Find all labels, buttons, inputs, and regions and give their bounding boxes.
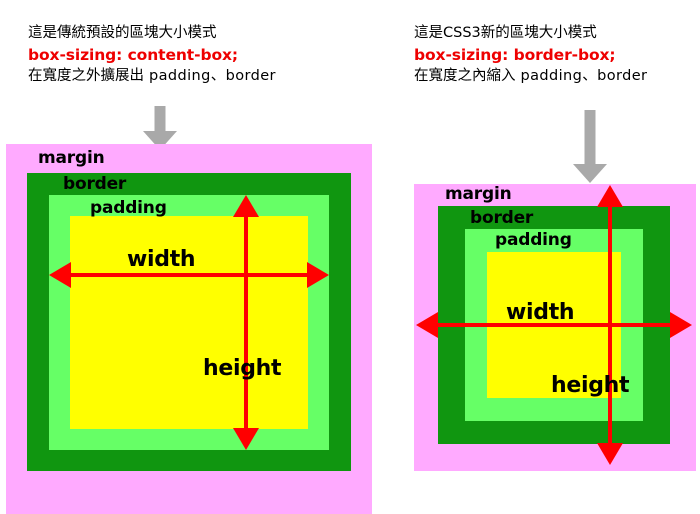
height-measure-line xyxy=(244,216,248,429)
padding-label: padding xyxy=(90,198,167,218)
caption-right-line1: 這是CSS3新的區塊大小模式 xyxy=(414,23,647,44)
height-measure-line xyxy=(608,206,612,444)
arrow-shaft xyxy=(155,106,166,132)
caption-right-code: box-sizing: border-box; xyxy=(414,44,647,66)
box-model-diagram-content-box: margin border padding width height xyxy=(6,144,372,514)
width-arrowhead-right xyxy=(670,312,692,338)
caption-right-line3: 在寬度之內縮入 padding、border xyxy=(414,66,647,87)
arrow-head xyxy=(573,164,607,183)
width-label: width xyxy=(506,300,574,325)
caption-content-box: 這是傳統預設的區塊大小模式 box-sizing: content-box; 在… xyxy=(28,23,276,86)
height-arrowhead-up xyxy=(597,185,623,207)
width-measure-line xyxy=(70,273,308,277)
border-label: border xyxy=(63,174,126,194)
margin-label: margin xyxy=(445,184,511,204)
caption-right-line3-cjk: 在寬度之內縮入 xyxy=(414,68,516,84)
border-label: border xyxy=(470,208,533,228)
height-label: height xyxy=(551,373,629,398)
caption-left-line1: 這是傳統預設的區塊大小模式 xyxy=(28,23,276,44)
width-arrowhead-right xyxy=(307,262,329,288)
height-arrowhead-down xyxy=(233,428,259,450)
width-arrowhead-left xyxy=(416,312,438,338)
box-model-diagram-border-box: margin border padding width height xyxy=(414,184,696,471)
width-label: width xyxy=(127,247,195,272)
margin-label: margin xyxy=(38,148,104,168)
padding-label: padding xyxy=(495,230,572,250)
arrow-shaft xyxy=(585,110,596,165)
caption-border-box: 這是CSS3新的區塊大小模式 box-sizing: border-box; 在… xyxy=(414,23,647,86)
caption-left-line3-cjk: 在寬度之外擴展出 xyxy=(28,68,144,84)
height-arrowhead-down xyxy=(597,443,623,465)
caption-left-line3: 在寬度之外擴展出 padding、border xyxy=(28,66,276,87)
height-label: height xyxy=(203,356,281,381)
width-arrowhead-left xyxy=(49,262,71,288)
caption-left-line3-latin: padding、border xyxy=(144,68,276,84)
height-arrowhead-up xyxy=(233,195,259,217)
gray-down-arrow-icon xyxy=(572,110,608,184)
caption-left-code: box-sizing: content-box; xyxy=(28,44,276,66)
caption-right-line3-latin: padding、border xyxy=(516,68,648,84)
